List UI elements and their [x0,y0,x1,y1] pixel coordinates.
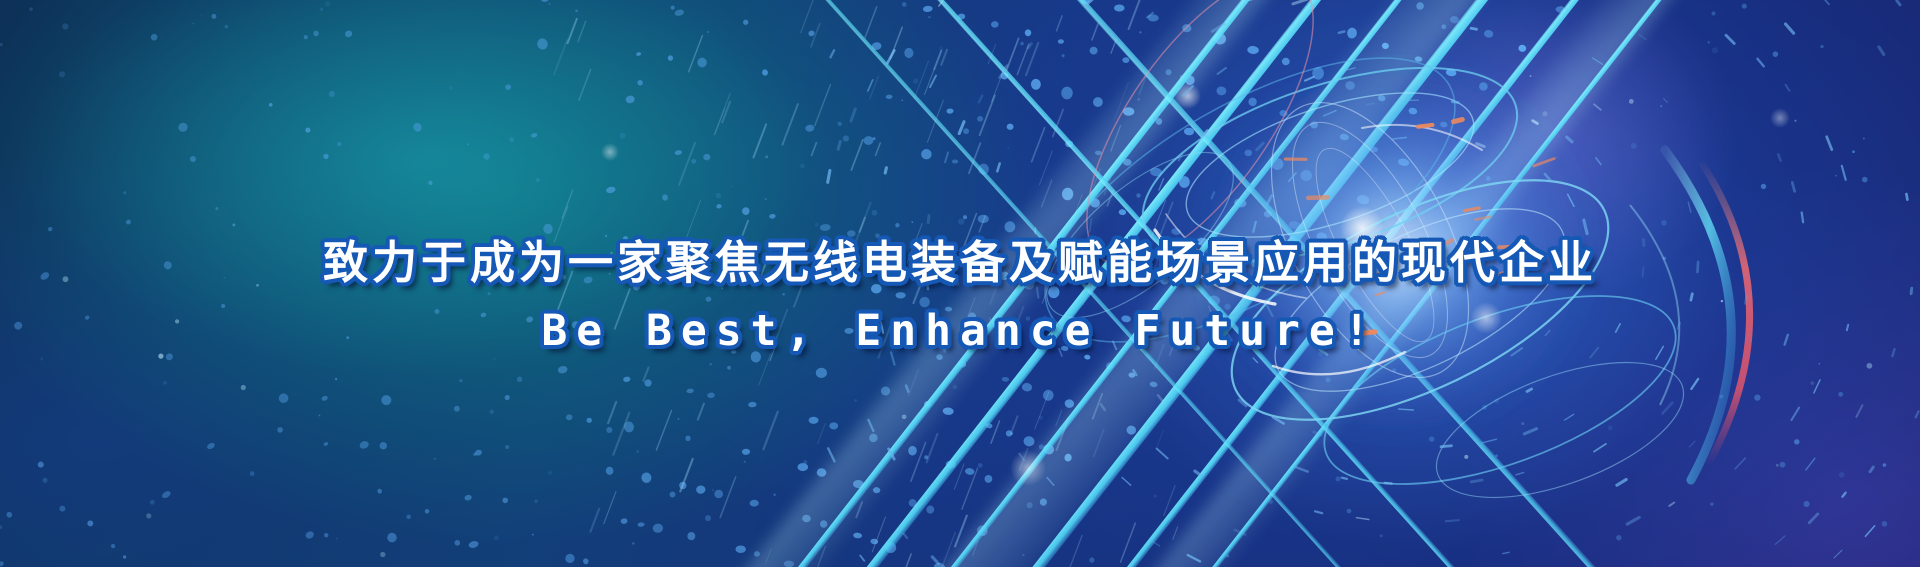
hero-banner: 致力于成为一家聚焦无线电装备及赋能场景应用的现代企业 Be Best, Enha… [0,0,1920,567]
dash-texture-field [0,0,1920,567]
